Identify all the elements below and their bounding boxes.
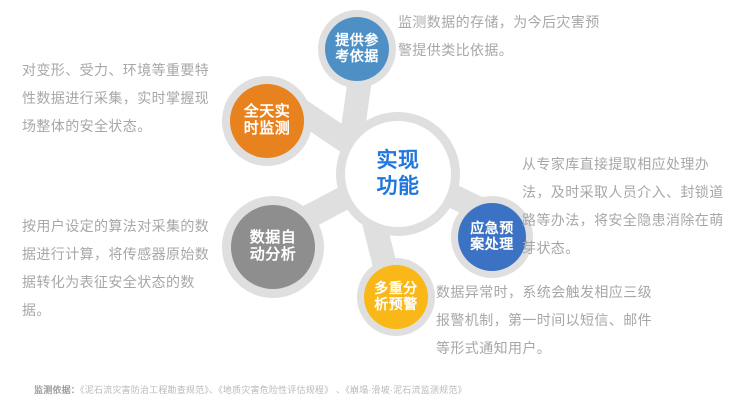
footer-text: 《泥石流灾害防治工程勘查规范》、《地质灾害危险性评估规程》 、《崩塌·滑坡·泥石… [80, 385, 467, 395]
node-center-line1: 实现 [377, 148, 420, 174]
node-center[interactable]: 实现 功能 [345, 121, 451, 227]
node-emergency-line1: 应急预 [470, 221, 514, 237]
description-emergency: 从专家库直接提取相应处理办法，及时采取人员介入、封锁道路等办法，将安全隐患消除在… [522, 150, 737, 262]
node-warning[interactable]: 多重分 析预警 [364, 265, 428, 329]
node-analysis-line2: 动分析 [250, 247, 297, 264]
node-warning-line2: 析预警 [374, 297, 418, 313]
diagram-canvas: 实现 功能 提供参 考依据 全天实 时监测 数据自 动分析 多重分 析预警 应急… [0, 0, 744, 411]
node-analysis-line1: 数据自 [250, 230, 297, 247]
node-reference[interactable]: 提供参 考依据 [325, 17, 389, 81]
node-center-line2: 功能 [377, 174, 420, 200]
footer-note: 监测依据：《泥石流灾害防治工程勘查规范》、《地质灾害危险性评估规程》 、《崩塌·… [34, 383, 467, 396]
node-monitoring[interactable]: 全天实 时监测 [230, 84, 304, 158]
description-analysis: 按用户设定的算法对采集的数据进行计算，将传感器原始数据转化为表征安全状态的数据。 [22, 212, 222, 324]
node-reference-line1: 提供参 [335, 33, 379, 49]
description-warning: 数据异常时，系统会触发相应三级报警机制，第一时间以短信、邮件等形式通知用户。 [436, 278, 666, 362]
node-monitoring-line1: 全天实 [244, 104, 291, 121]
node-analysis[interactable]: 数据自 动分析 [231, 205, 315, 289]
node-monitoring-line2: 时监测 [244, 121, 291, 138]
node-warning-line1: 多重分 [374, 281, 418, 297]
description-reference: 监测数据的存储，为今后灾害预警提供类比依据。 [398, 8, 613, 64]
node-reference-line2: 考依据 [335, 49, 379, 65]
node-emergency-line2: 案处理 [470, 237, 514, 253]
description-monitoring: 对变形、受力、环境等重要特性数据进行采集，实时掌握现场整体的安全状态。 [22, 56, 222, 140]
footer-label: 监测依据： [34, 385, 80, 395]
node-emergency[interactable]: 应急预 案处理 [458, 203, 526, 271]
